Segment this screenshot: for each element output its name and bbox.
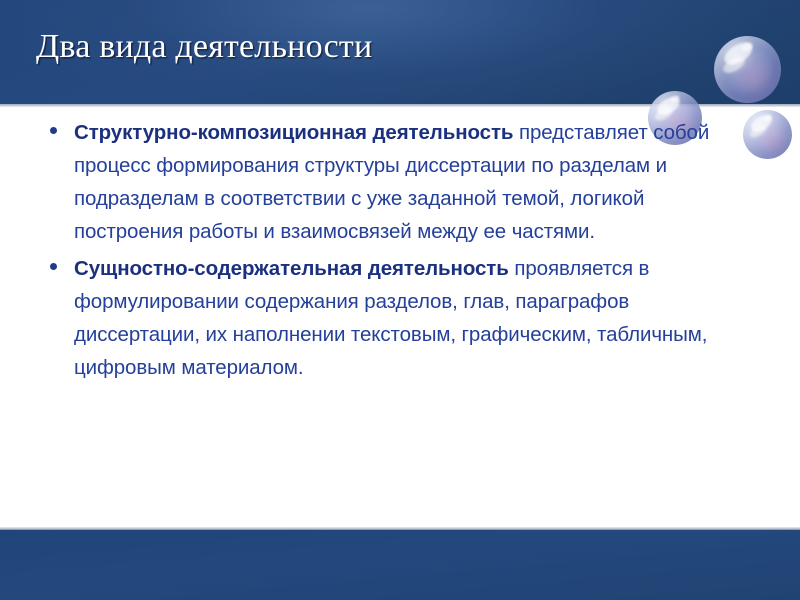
list-item-lead: Структурно-композиционная деятельность [74, 121, 513, 144]
list-item-text: Сущностно-содержательная деятельность пр… [74, 252, 716, 384]
slide-footer-band [0, 530, 800, 600]
list-item: Структурно-композиционная деятельность п… [44, 116, 716, 248]
bubble-large-decoration [714, 36, 781, 103]
page-title: Два вида деятельности [36, 28, 676, 66]
bullet-point-icon [50, 127, 57, 134]
slide: Два вида деятельности Структурно-компози… [0, 0, 800, 600]
slide-body: Структурно-композиционная деятельность п… [44, 116, 716, 388]
list-item-text: Структурно-композиционная деятельность п… [74, 116, 716, 248]
bullet-point-icon [50, 263, 57, 270]
bubble-small-decoration [743, 110, 792, 159]
list-item-lead: Сущностно-содержательная деятельность [74, 257, 509, 280]
list-item: Сущностно-содержательная деятельность пр… [44, 252, 716, 384]
